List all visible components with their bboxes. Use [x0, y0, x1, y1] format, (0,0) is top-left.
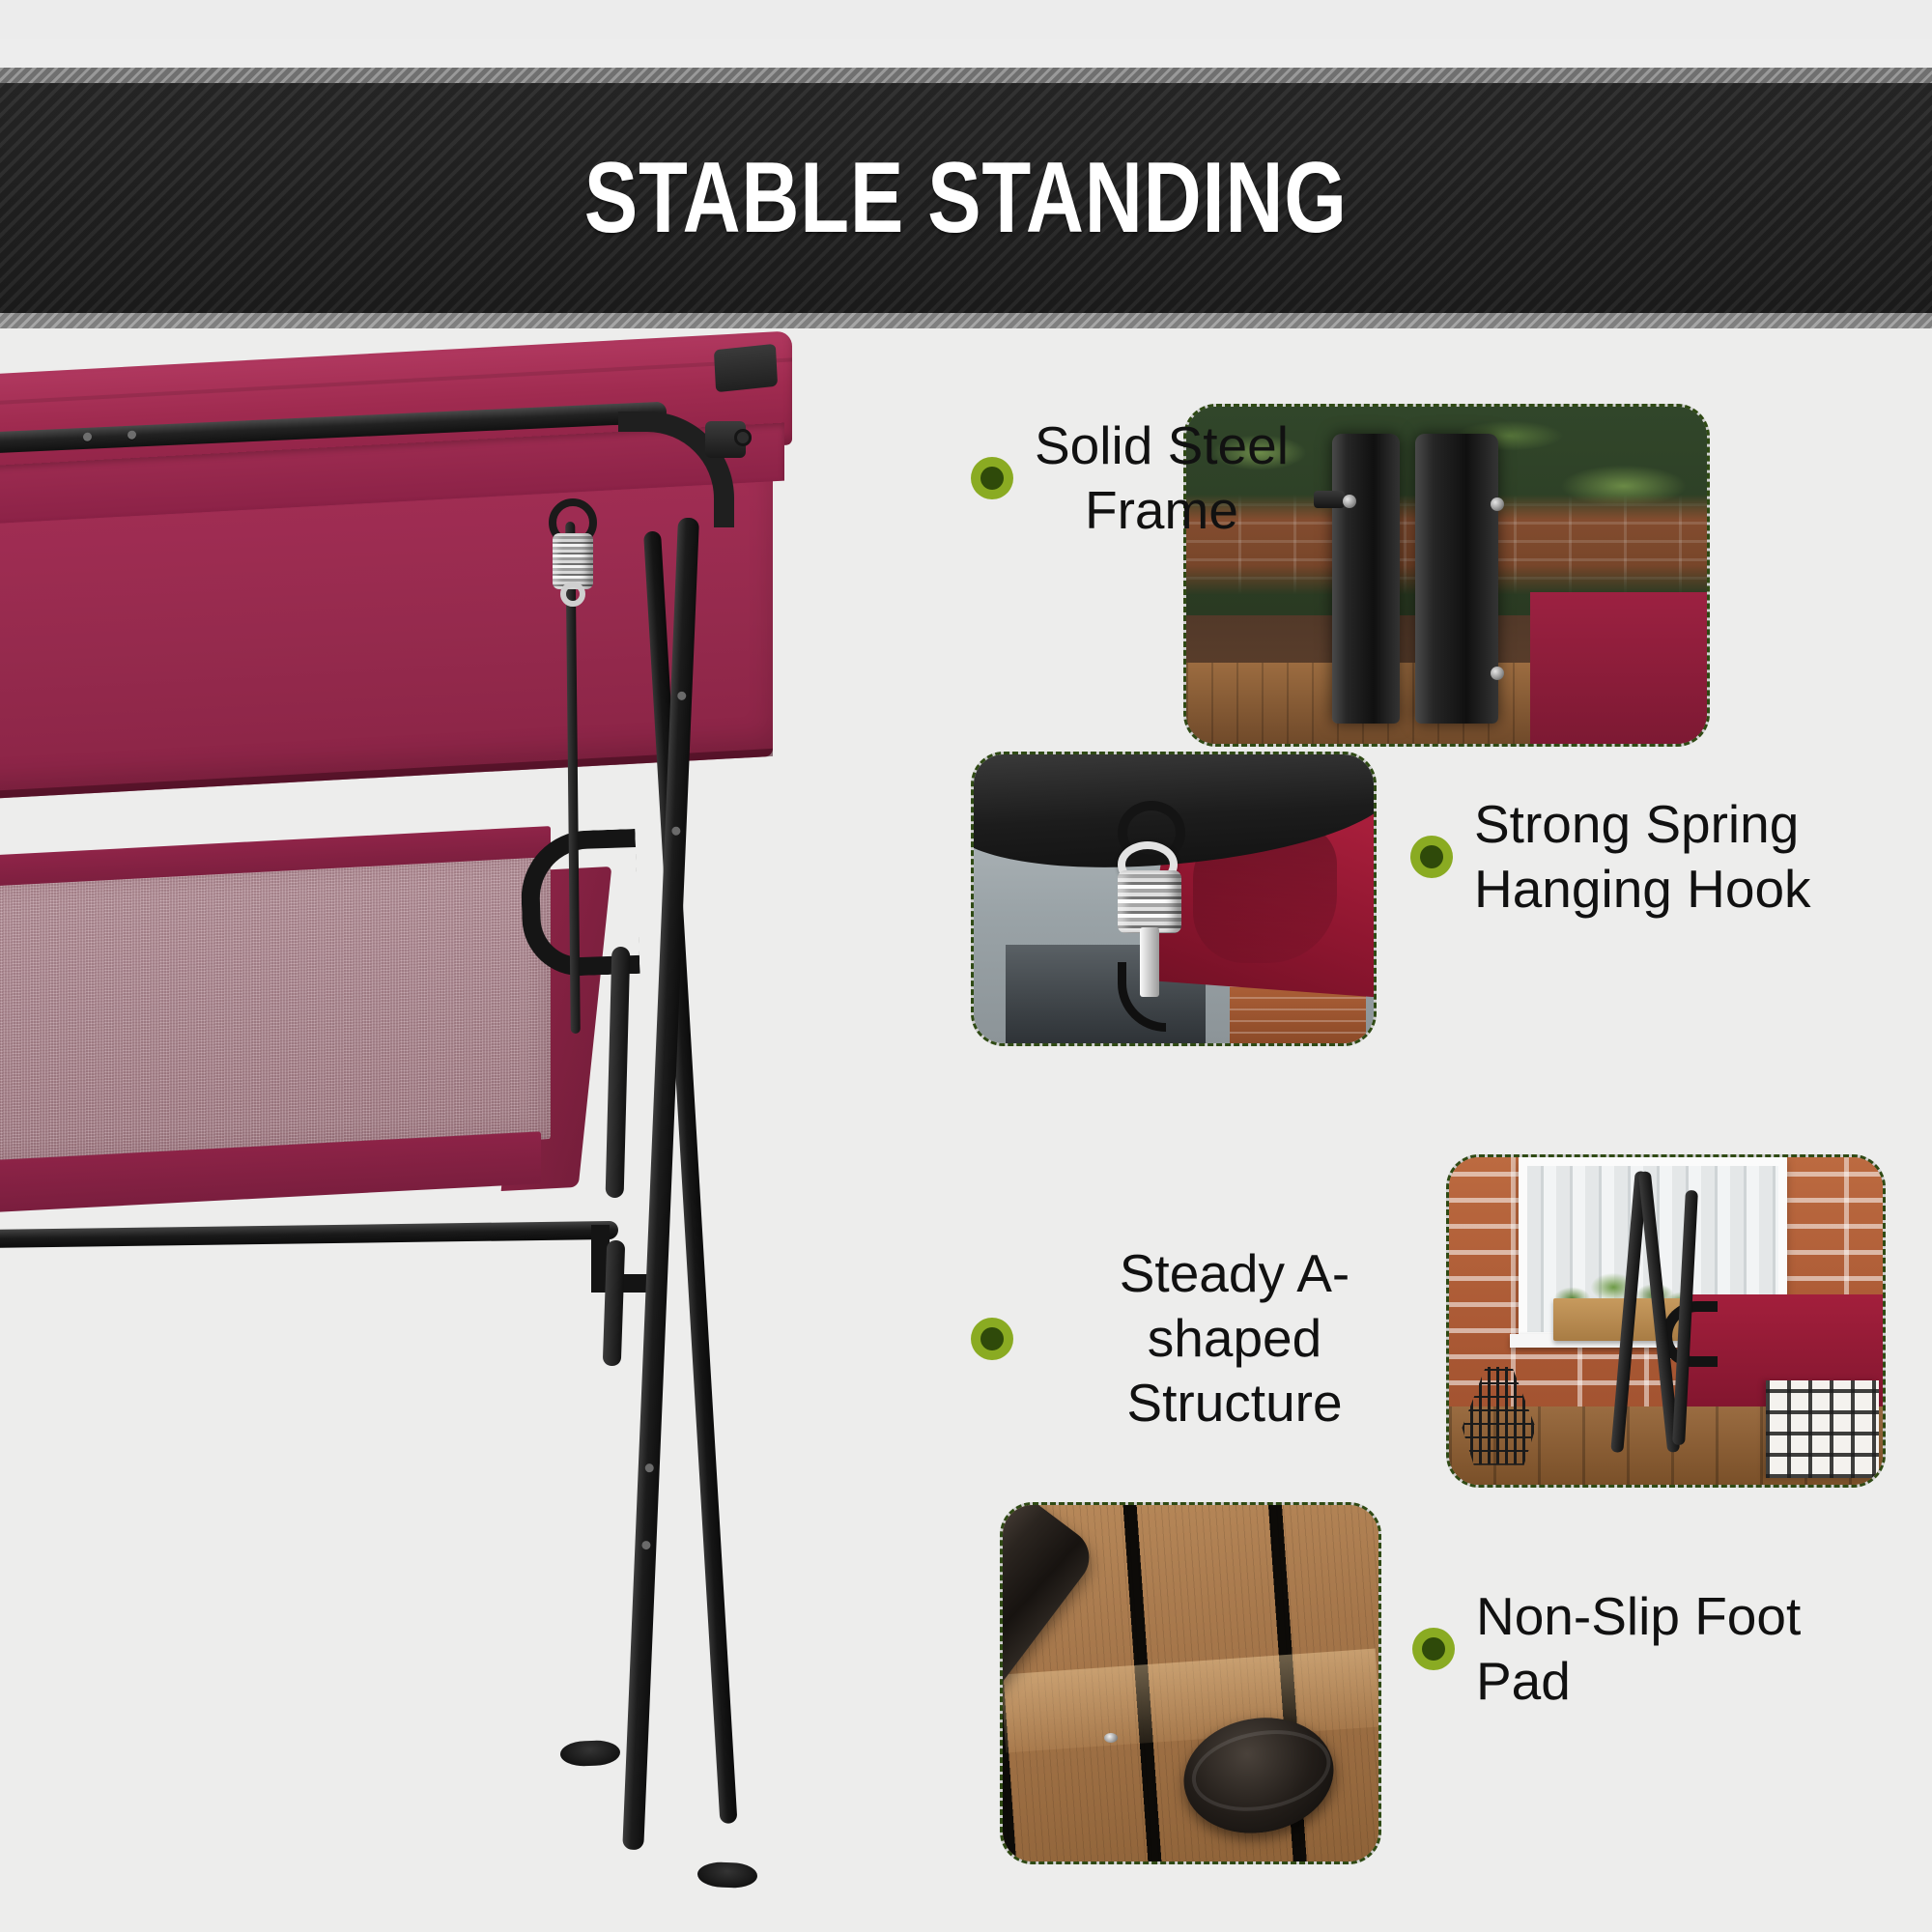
feature-steady-a-shaped-structure: Steady A-shaped Structure: [971, 1241, 1435, 1435]
top-margin: [0, 0, 1932, 39]
bullet-icon: [971, 457, 1013, 499]
canopy-end-cap: [714, 344, 778, 393]
banner-top-stripe: [0, 68, 1932, 83]
frame-knuckle-bolt: [705, 421, 746, 458]
inset-photo-spring-hook: [971, 752, 1377, 1046]
feature-label: Non-Slip Foot Pad: [1476, 1584, 1801, 1714]
infographic-page: STABLE STANDING: [0, 0, 1932, 1932]
hero-product-image: [0, 328, 908, 1932]
foot-pad: [697, 1861, 758, 1889]
pole-bolt: [1491, 667, 1504, 680]
bullet-icon: [1410, 836, 1453, 878]
content-stage: Solid Steel Frame Strong Spring Hanging …: [0, 328, 1932, 1932]
banner-body: STABLE STANDING: [0, 83, 1932, 313]
foot-pad-photo: [1003, 1505, 1378, 1861]
red-canopy-edge: [1530, 592, 1707, 744]
inset-photo-non-slip-foot-pad: [1000, 1502, 1381, 1864]
leg-bolt: [671, 827, 680, 836]
porch-scene-photo: [1449, 1157, 1883, 1485]
rail-drop-leg: [603, 1240, 626, 1367]
feature-label: Steady A-shaped Structure: [1035, 1241, 1435, 1435]
steel-pole: [1415, 434, 1498, 724]
spring-eye-ring: [560, 582, 585, 607]
bullet-icon: [971, 1318, 1013, 1360]
feature-label: Strong Spring Hanging Hook: [1474, 792, 1811, 922]
banner-bottom-stripe: [0, 313, 1932, 328]
crossbar-rivet: [128, 430, 136, 439]
feature-strong-spring-hanging-hook: Strong Spring Hanging Hook: [1410, 792, 1903, 922]
leg-bolt: [677, 692, 686, 700]
inset-photo-a-shaped-structure: [1446, 1154, 1886, 1488]
crossbar-rivet: [83, 433, 92, 441]
seat-mesh-panel: [0, 849, 551, 1179]
checked-throw: [1766, 1380, 1879, 1479]
bullet-icon: [1412, 1628, 1455, 1670]
foot-pad: [560, 1740, 621, 1767]
feature-label: Solid Steel Frame: [1035, 413, 1289, 543]
spring-hook-photo: [974, 754, 1374, 1043]
leg-bolt: [645, 1463, 654, 1472]
armrest-post: [606, 947, 631, 1198]
spring-coil-icon: [1118, 870, 1181, 934]
page-title: STABLE STANDING: [584, 148, 1348, 248]
feature-non-slip-foot-pad: Non-Slip Foot Pad: [1412, 1584, 1895, 1714]
header-banner: STABLE STANDING: [0, 68, 1932, 328]
leg-bolt: [641, 1541, 650, 1549]
feature-solid-steel-frame: Solid Steel Frame: [971, 413, 1396, 543]
